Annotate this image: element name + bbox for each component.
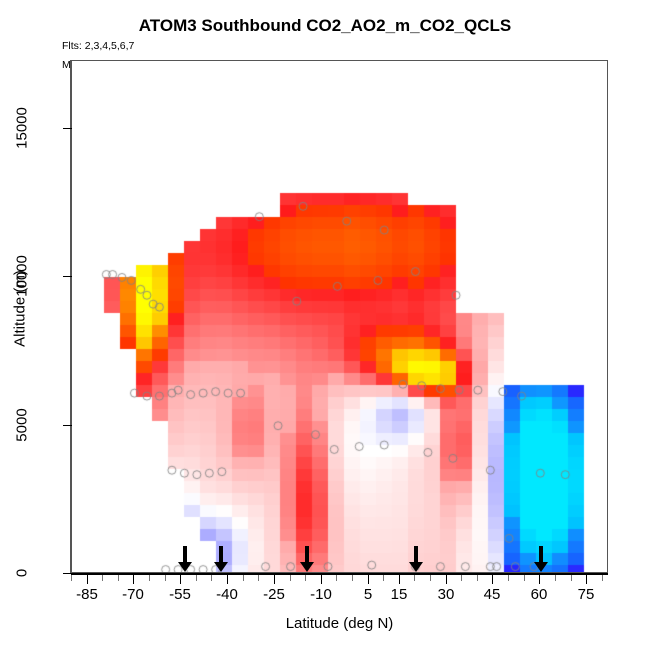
x-axis-minor-tick: [211, 575, 212, 581]
y-axis-tick: [63, 573, 72, 574]
profile-marker-arrow: [534, 546, 548, 572]
x-axis-line: [71, 573, 608, 575]
x-axis-minor-tick: [383, 575, 384, 581]
x-axis-tick: [227, 575, 228, 584]
y-axis-title: Altitude (m): [12, 229, 29, 389]
x-axis-tick: [446, 575, 447, 584]
x-axis-tick: [539, 575, 540, 584]
x-axis-minor-tick: [524, 575, 525, 581]
arrow-head: [300, 562, 314, 572]
x-axis-tick-label: -70: [122, 586, 144, 603]
x-axis-tick-label: 5: [364, 586, 372, 603]
y-axis-tick-label: 15000: [14, 107, 31, 149]
arrow-head: [178, 562, 192, 572]
y-axis-tick-label: 0: [14, 569, 31, 577]
profile-marker-arrow: [300, 546, 314, 572]
x-axis-minor-tick: [414, 575, 415, 581]
x-axis-minor-tick: [149, 575, 150, 581]
x-axis-tick-label: -85: [76, 586, 98, 603]
x-axis-tick-label: 45: [484, 586, 501, 603]
x-axis-tick-label: -40: [216, 586, 238, 603]
x-axis-tick: [586, 575, 587, 584]
x-axis-minor-tick: [102, 575, 103, 581]
x-axis-tick-label: 75: [578, 586, 595, 603]
x-axis-minor-tick: [508, 575, 509, 581]
x-axis-tick: [368, 575, 369, 584]
x-axis-tick-label: 15: [391, 586, 408, 603]
x-axis-title: Latitude (deg N): [71, 615, 608, 632]
x-axis-tick-label: 30: [438, 586, 455, 603]
x-axis-tick-label: 60: [531, 586, 548, 603]
x-axis-minor-tick: [243, 575, 244, 581]
x-axis-tick: [399, 575, 400, 584]
x-axis-minor-tick: [196, 575, 197, 581]
x-axis-tick: [321, 575, 322, 584]
y-axis-tick: [63, 128, 72, 129]
x-axis-minor-tick: [305, 575, 306, 581]
x-axis-minor-tick: [571, 575, 572, 581]
figure-root: ATOM3 Southbound CO2_AO2_m_CO2_QCLS Flts…: [0, 0, 650, 650]
x-axis-minor-tick: [258, 575, 259, 581]
x-axis-tick: [133, 575, 134, 584]
page-title: ATOM3 Southbound CO2_AO2_m_CO2_QCLS: [0, 16, 650, 36]
x-axis-minor-tick: [602, 575, 603, 581]
x-axis-minor-tick: [352, 575, 353, 581]
x-axis-minor-tick: [430, 575, 431, 581]
x-axis-minor-tick: [555, 575, 556, 581]
x-axis-tick-label: -55: [169, 586, 191, 603]
x-axis-minor-tick: [165, 575, 166, 581]
x-axis-tick: [87, 575, 88, 584]
plot-area: [71, 60, 608, 573]
profile-marker-arrow: [214, 546, 228, 572]
x-axis-tick: [180, 575, 181, 584]
x-axis-tick-label: -10: [310, 586, 332, 603]
y-axis-tick: [63, 276, 72, 277]
profile-marker-arrow: [409, 546, 423, 572]
x-axis-minor-tick: [71, 575, 72, 581]
x-axis-minor-tick: [461, 575, 462, 581]
x-axis-minor-tick: [477, 575, 478, 581]
flights-annotation: Flts: 2,3,4,5,6,7: [62, 40, 134, 52]
profile-marker-arrow: [178, 546, 192, 572]
x-axis-minor-tick: [118, 575, 119, 581]
x-axis-minor-tick: [290, 575, 291, 581]
y-axis-tick-label: 5000: [14, 408, 31, 441]
x-axis-tick: [274, 575, 275, 584]
x-axis-minor-tick: [336, 575, 337, 581]
x-axis-tick-label: -25: [263, 586, 285, 603]
arrow-head: [534, 562, 548, 572]
curtain-heatmap: [72, 61, 607, 572]
arrow-head: [214, 562, 228, 572]
y-axis-line: [70, 60, 72, 574]
arrow-head: [409, 562, 423, 572]
x-axis-tick: [492, 575, 493, 584]
y-axis-tick: [63, 425, 72, 426]
